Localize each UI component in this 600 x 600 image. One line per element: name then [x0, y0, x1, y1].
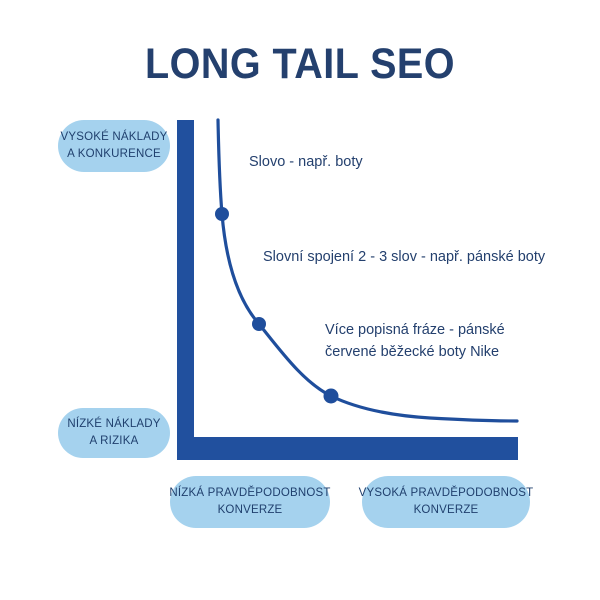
- y-axis-bar: [177, 120, 194, 460]
- label-high-cost-competition: VYSOKÉ NÁKLADY A KONKURENCE: [58, 120, 170, 172]
- label-low-conversion-line1: NÍZKÁ PRAVDĚPODOBNOST: [169, 485, 330, 502]
- label-high-conversion-line1: VYSOKÁ PRAVDĚPODOBNOST: [359, 485, 534, 502]
- long-tail-seo-infographic: LONG TAIL SEO Slovo - např. boty Slovní …: [0, 0, 600, 600]
- x-axis-bar: [177, 437, 518, 460]
- curve-marker-3: [324, 389, 339, 404]
- label-high-cost-line2: A KONKURENCE: [67, 146, 161, 163]
- label-low-cost-line1: NÍZKÉ NÁKLADY: [67, 416, 160, 433]
- label-high-conversion-line2: KONVERZE: [414, 502, 479, 519]
- annotation-long-tail: Více popisná fráze - pánské červené běže…: [325, 320, 525, 364]
- annotation-long-tail-line2: červené běžecké boty Nike: [325, 344, 499, 360]
- label-low-conversion-line2: KONVERZE: [218, 502, 283, 519]
- label-high-cost-line1: VYSOKÉ NÁKLADY: [61, 129, 168, 146]
- label-low-cost-risk: NÍZKÉ NÁKLADY A RIZIKA: [58, 408, 170, 458]
- annotation-phrase-text: Slovní spojení 2 - 3 slov - např. pánské…: [263, 249, 545, 265]
- label-high-conversion-probability: VYSOKÁ PRAVDĚPODOBNOST KONVERZE: [362, 476, 530, 528]
- annotation-single-word-text: Slovo - např. boty: [249, 154, 363, 170]
- annotation-single-word: Slovo - např. boty: [249, 152, 363, 174]
- annotation-long-tail-line1: Více popisná fráze - pánské: [325, 322, 505, 338]
- curve-marker-1: [215, 207, 229, 221]
- annotation-phrase: Slovní spojení 2 - 3 slov - např. pánské…: [263, 247, 545, 269]
- label-low-cost-line2: A RIZIKA: [90, 433, 139, 450]
- curve-marker-2: [252, 317, 266, 331]
- label-low-conversion-probability: NÍZKÁ PRAVDĚPODOBNOST KONVERZE: [170, 476, 330, 528]
